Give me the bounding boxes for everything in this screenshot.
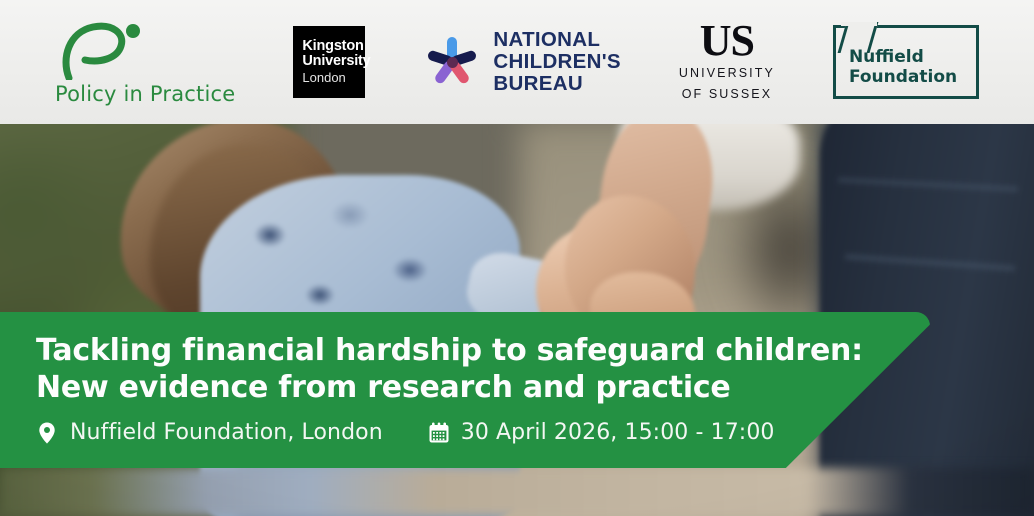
- event-date-text: 30 April 2026, 15:00 - 17:00: [461, 420, 775, 445]
- calendar-icon: [427, 421, 449, 445]
- partner-logo-bar: Policy in Practice Kingston University L…: [0, 0, 1034, 124]
- event-location: Nuffield Foundation, London: [36, 420, 383, 445]
- ncb-wordmark: NATIONAL CHILDREN'S BUREAU: [493, 29, 620, 95]
- ncb-pinwheel-icon: [423, 33, 481, 91]
- kingston-line-1: Kingston: [302, 39, 363, 54]
- policy-in-practice-swoosh-icon: [55, 18, 151, 80]
- event-title: Tackling financial hardship to safeguard…: [36, 332, 886, 406]
- logo-policy-in-practice: Policy in Practice: [55, 18, 235, 106]
- nuffield-wordmark: Nuffield Foundation: [849, 47, 957, 87]
- nuffield-line-2: Foundation: [849, 67, 957, 87]
- nuffield-line-1: Nuffield: [849, 47, 957, 67]
- event-location-text: Nuffield Foundation, London: [70, 420, 383, 445]
- event-promo-banner: Policy in Practice Kingston University L…: [0, 0, 1034, 516]
- ncb-hub-icon: [447, 57, 458, 68]
- banner-content: Tackling financial hardship to safeguard…: [36, 332, 886, 445]
- kingston-line-2: University: [302, 54, 370, 69]
- sussex-monogram: US: [700, 21, 754, 61]
- map-pin-icon: [36, 421, 58, 445]
- ncb-line-2: CHILDREN'S: [493, 51, 620, 73]
- ncb-line-1: NATIONAL: [493, 29, 620, 51]
- logo-nuffield-foundation: Nuffield Foundation: [833, 25, 979, 99]
- logo-national-childrens-bureau: NATIONAL CHILDREN'S BUREAU: [423, 29, 620, 95]
- nuffield-notch-mask: [841, 22, 877, 26]
- sussex-line-2: OF SUSSEX: [682, 86, 772, 103]
- logo-university-of-sussex: US UNIVERSITY OF SUSSEX: [679, 21, 775, 103]
- logo-kingston-university: Kingston University London: [293, 26, 365, 98]
- event-title-banner: Tackling financial hardship to safeguard…: [0, 312, 930, 468]
- kingston-line-3: London: [302, 70, 345, 86]
- event-date: 30 April 2026, 15:00 - 17:00: [427, 420, 775, 445]
- sussex-line-1: UNIVERSITY: [679, 65, 775, 82]
- ncb-line-3: BUREAU: [493, 73, 620, 95]
- event-meta: Nuffield Foundation, London: [36, 420, 886, 445]
- policy-in-practice-wordmark: Policy in Practice: [55, 82, 235, 106]
